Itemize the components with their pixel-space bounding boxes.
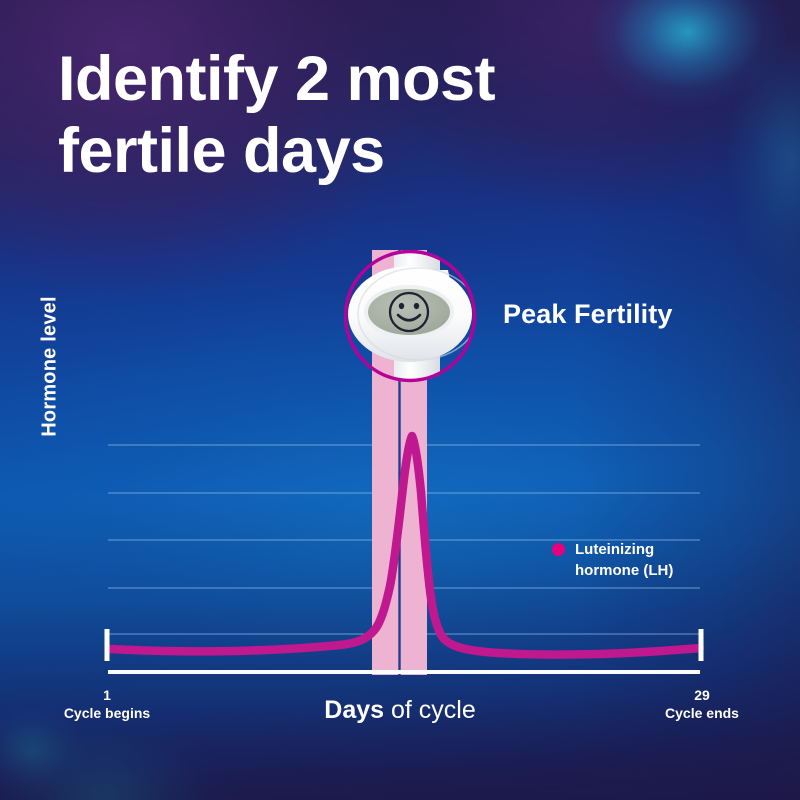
axis-end-text: Cycle ends — [642, 704, 762, 723]
hormone-level-chart — [0, 0, 800, 800]
axis-start-text: Cycle begins — [47, 704, 167, 723]
chart-legend: Luteinizing hormone (LH) — [552, 539, 673, 582]
axis-start-caption: 1 Cycle begins — [47, 686, 167, 723]
peak-fertility-label: Peak Fertility — [503, 299, 672, 330]
legend-dot-icon — [552, 543, 565, 556]
axis-start-number: 1 — [47, 686, 167, 704]
legend-item-label: Luteinizing hormone (LH) — [575, 539, 673, 582]
x-axis-label-rest: of cycle — [384, 696, 476, 724]
poster-canvas: Identify 2 most fertile days Hormone lev… — [0, 0, 800, 800]
ovulation-test-device — [344, 246, 480, 388]
x-axis-label-bold: Days — [324, 696, 384, 724]
device-screen — [368, 289, 450, 335]
axis-end-caption: 29 Cycle ends — [642, 686, 762, 723]
x-axis-label: Days of cycle — [240, 695, 560, 725]
y-axis-label: Hormone level — [39, 257, 62, 477]
axis-end-number: 29 — [642, 686, 762, 704]
